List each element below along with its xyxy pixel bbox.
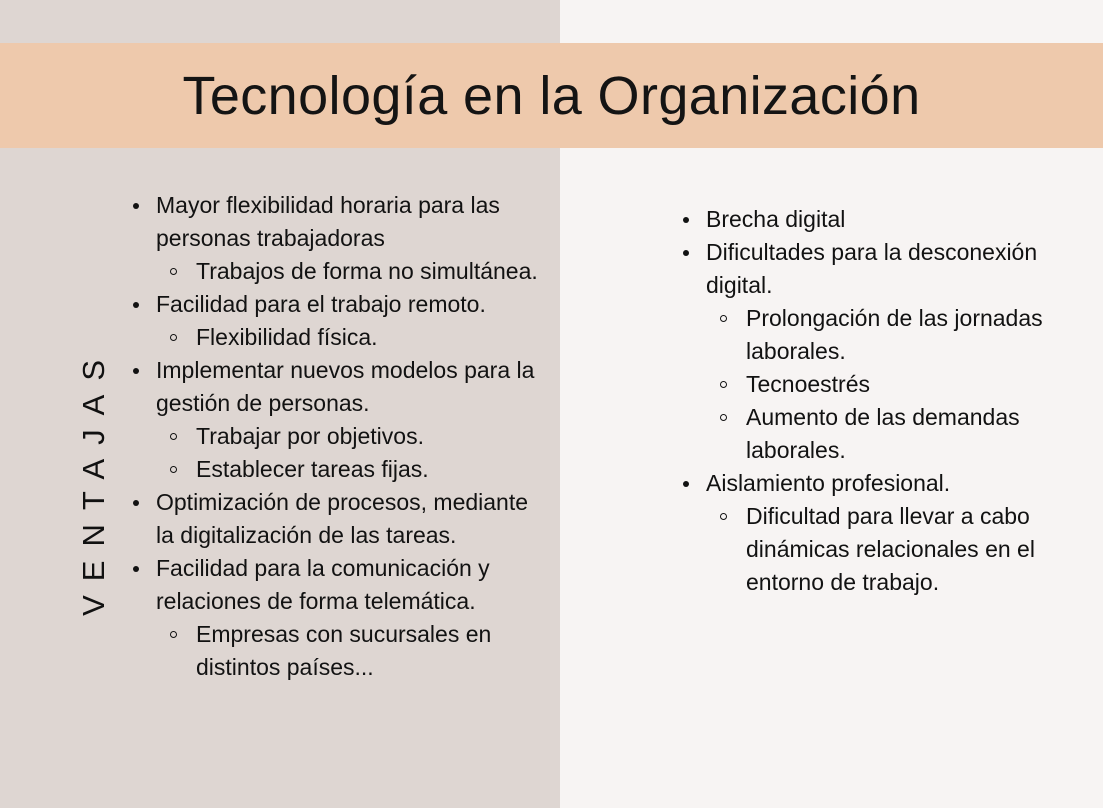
sub-list-item: Dificultad para llevar a cabo dinámicas … bbox=[678, 500, 1076, 599]
sub-list-item: Trabajos de forma no simultánea. bbox=[128, 255, 540, 288]
sub-list-item: Trabajar por objetivos. bbox=[128, 420, 540, 453]
page-title: Tecnología en la Organización bbox=[182, 69, 920, 123]
sub-list: Empresas con sucursales en distintos paí… bbox=[128, 618, 540, 684]
ventajas-list-container: Mayor flexibilidad horaria para las pers… bbox=[128, 189, 540, 684]
sub-list-item-text: Trabajar por objetivos. bbox=[196, 420, 540, 453]
ventajas-side-label: VENTAJAS bbox=[78, 346, 109, 616]
sub-list-item-text: Trabajos de forma no simultánea. bbox=[196, 255, 540, 288]
desventajas-list: Brecha digitalDificultades para la desco… bbox=[678, 203, 1076, 599]
list-item: Optimización de procesos, mediante la di… bbox=[128, 486, 540, 552]
list-item: Brecha digital bbox=[678, 203, 1076, 236]
ventajas-list: Mayor flexibilidad horaria para las pers… bbox=[128, 189, 540, 684]
desventajas-list-container: Brecha digitalDificultades para la desco… bbox=[678, 203, 1076, 599]
sub-list-item-text: Dificultad para llevar a cabo dinámicas … bbox=[746, 500, 1076, 599]
sub-list: Prolongación de las jornadas laborales.T… bbox=[678, 302, 1076, 467]
sub-list: Dificultad para llevar a cabo dinámicas … bbox=[678, 500, 1076, 599]
sub-list-item-text: Establecer tareas fijas. bbox=[196, 453, 540, 486]
ventajas-column: VENTAJAS Mayor flexibilidad horaria para… bbox=[0, 148, 560, 808]
sub-list: Flexibilidad física. bbox=[128, 321, 540, 354]
list-item-text: Brecha digital bbox=[706, 203, 1076, 236]
list-item-text: Facilidad para el trabajo remoto. bbox=[156, 288, 540, 321]
list-item: Facilidad para la comunicación y relacio… bbox=[128, 552, 540, 618]
sub-list: Trabajar por objetivos.Establecer tareas… bbox=[128, 420, 540, 486]
sub-list-item: Establecer tareas fijas. bbox=[128, 453, 540, 486]
sub-list-item-text: Prolongación de las jornadas laborales. bbox=[746, 302, 1076, 368]
list-item: Implementar nuevos modelos para la gesti… bbox=[128, 354, 540, 420]
sub-list-item: Prolongación de las jornadas laborales. bbox=[678, 302, 1076, 368]
list-item-text: Dificultades para la desconexión digital… bbox=[706, 236, 1076, 302]
sub-list-item-text: Empresas con sucursales en distintos paí… bbox=[196, 618, 540, 684]
sub-list-item: Flexibilidad física. bbox=[128, 321, 540, 354]
sub-list-item-text: Tecnoestrés bbox=[746, 368, 1076, 401]
list-item-text: Implementar nuevos modelos para la gesti… bbox=[156, 354, 540, 420]
sub-list-item: Tecnoestrés bbox=[678, 368, 1076, 401]
list-item-text: Mayor flexibilidad horaria para las pers… bbox=[156, 189, 540, 255]
sub-list-item: Aumento de las demandas laborales. bbox=[678, 401, 1076, 467]
list-item: Facilidad para el trabajo remoto. bbox=[128, 288, 540, 321]
list-item-text: Aislamiento profesional. bbox=[706, 467, 1076, 500]
list-item: Aislamiento profesional. bbox=[678, 467, 1076, 500]
list-item: Dificultades para la desconexión digital… bbox=[678, 236, 1076, 302]
desventajas-column: DESVENTAJAS Brecha digitalDificultades p… bbox=[560, 148, 1103, 808]
list-item-text: Facilidad para la comunicación y relacio… bbox=[156, 552, 540, 618]
sub-list-item-text: Flexibilidad física. bbox=[196, 321, 540, 354]
list-item: Mayor flexibilidad horaria para las pers… bbox=[128, 189, 540, 255]
title-banner: Tecnología en la Organización bbox=[0, 43, 1103, 148]
slide-root: Tecnología en la Organización VENTAJAS M… bbox=[0, 0, 1103, 808]
sub-list-item: Empresas con sucursales en distintos paí… bbox=[128, 618, 540, 684]
sub-list: Trabajos de forma no simultánea. bbox=[128, 255, 540, 288]
list-item-text: Optimización de procesos, mediante la di… bbox=[156, 486, 540, 552]
sub-list-item-text: Aumento de las demandas laborales. bbox=[746, 401, 1076, 467]
